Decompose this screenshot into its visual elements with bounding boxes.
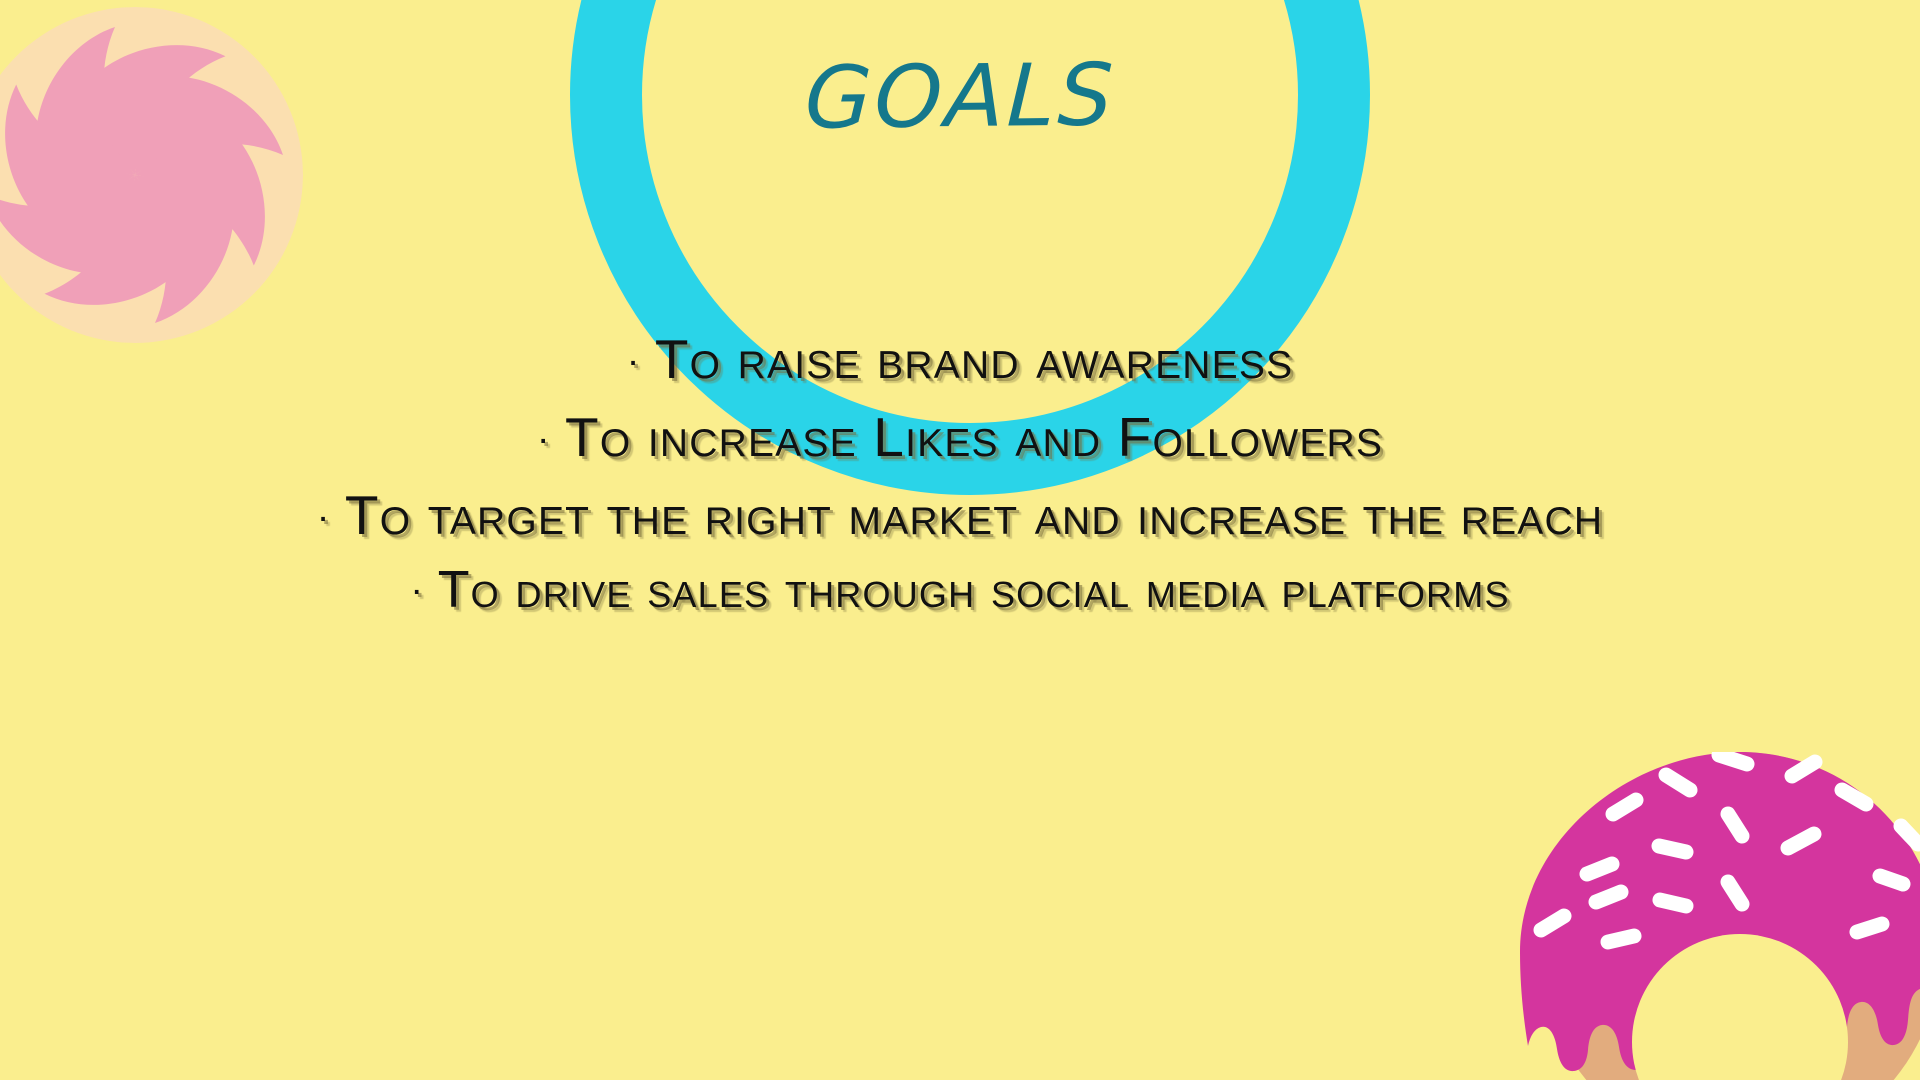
list-item: · To target the right market and increas…	[0, 476, 1920, 554]
bullet-marker: ·	[537, 419, 550, 461]
list-item: · To drive sales through social media pl…	[0, 554, 1920, 628]
bullet-marker: ·	[410, 570, 423, 612]
donut-icon	[1520, 752, 1920, 1080]
bullet-marker: ·	[317, 497, 330, 539]
goals-bullet-list: · To raise brand awareness · To increase…	[0, 320, 1920, 628]
list-item: · To increase Likes and Followers	[0, 398, 1920, 476]
list-item-label: To target the right market and increase …	[345, 484, 1603, 546]
list-item-label: To raise brand awareness	[655, 328, 1293, 390]
page-title: GOALS	[803, 50, 1118, 144]
list-item-label: To increase Likes and Followers	[565, 406, 1383, 468]
list-item-label: To drive sales through social media plat…	[438, 561, 1510, 619]
bullet-marker: ·	[627, 340, 640, 382]
page-title-wrap: GOALS	[0, 52, 1920, 142]
list-item: · To raise brand awareness	[0, 320, 1920, 398]
slide-canvas: GOALS · To raise brand awareness · To in…	[0, 0, 1920, 1080]
